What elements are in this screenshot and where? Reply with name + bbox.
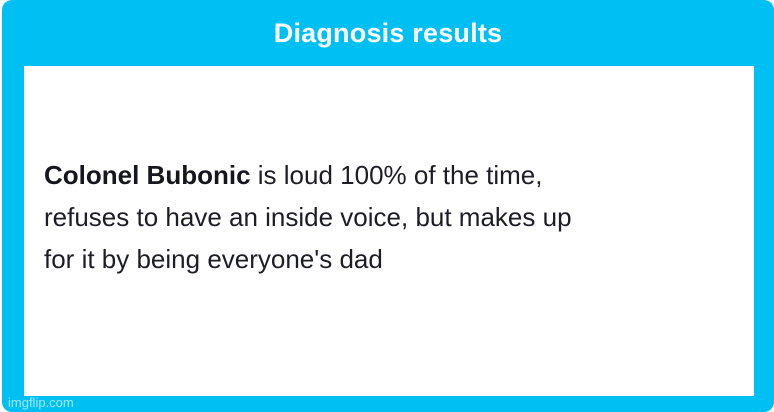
diagnosis-line-3: for it by being everyone's dad xyxy=(44,238,734,280)
subject-name: Colonel Bubonic xyxy=(44,160,251,190)
page-title: Diagnosis results xyxy=(274,20,502,47)
meme-image: Diagnosis results Colonel Bubonic is lou… xyxy=(0,0,774,412)
diagnosis-line-1: Colonel Bubonic is loud 100% of the time… xyxy=(44,154,734,196)
results-panel: Colonel Bubonic is loud 100% of the time… xyxy=(24,66,754,396)
diagnosis-card: Diagnosis results Colonel Bubonic is lou… xyxy=(2,0,774,412)
card-header: Diagnosis results xyxy=(2,0,774,66)
imgflip-watermark: imgflip.com xyxy=(8,395,74,410)
diagnosis-line-2: refuses to have an inside voice, but mak… xyxy=(44,196,734,238)
diagnosis-text-block: Colonel Bubonic is loud 100% of the time… xyxy=(44,154,734,280)
diagnosis-line-1-rest: is loud 100% of the time, xyxy=(251,160,543,190)
